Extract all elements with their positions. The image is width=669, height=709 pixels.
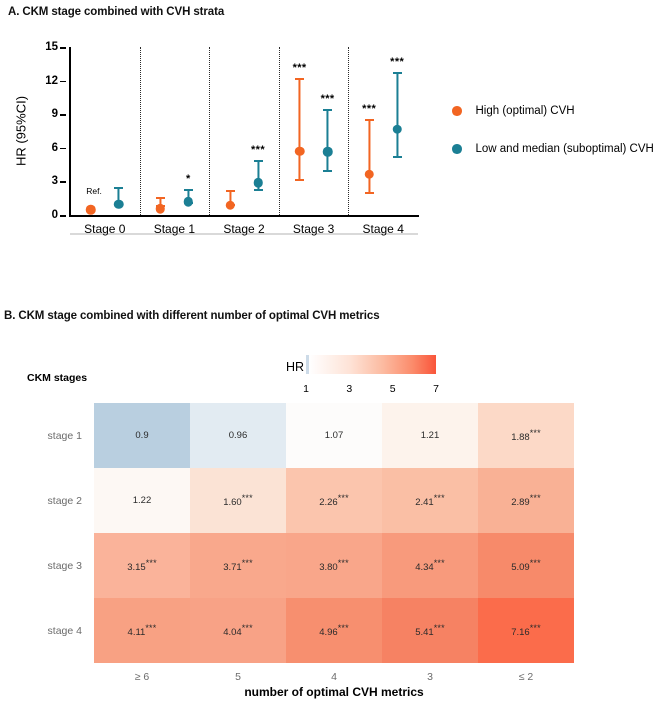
data-point-marker — [86, 205, 96, 215]
significance-stars: *** — [362, 104, 376, 115]
y-axis-tick — [60, 81, 66, 83]
heatmap-cell[interactable]: 3.80*** — [286, 533, 382, 598]
panel-a-legend: High (optimal) CVH Low and median (subop… — [452, 92, 654, 168]
y-axis-tick-label: 0 — [52, 209, 58, 221]
colorbar-tick-label: 3 — [346, 383, 352, 395]
heatmap-cell[interactable]: 4.96***4 — [286, 598, 382, 663]
heatmap-cell[interactable]: 3.71*** — [190, 533, 286, 598]
heatmap-row: stage 21.221.60***2.26***2.41***2.89*** — [94, 468, 574, 533]
heatmap-cell-value: 1.88*** — [511, 428, 541, 443]
heatmap-grid: stage 10.90.961.071.211.88***stage 21.22… — [94, 403, 574, 663]
colorbar-tick-label: 5 — [390, 383, 396, 395]
error-bar-line — [299, 78, 301, 181]
colorbar-tick-label: 7 — [433, 383, 439, 395]
legend-item-high-cvh: High (optimal) CVH — [452, 92, 654, 130]
data-point-group — [160, 47, 161, 215]
heatmap-column-label: 3 — [427, 671, 433, 683]
panel-a-title: A. CKM stage combined with CVH strata — [8, 6, 224, 18]
error-bar-line — [327, 109, 329, 173]
heatmap-column-label: ≥ 6 — [135, 671, 150, 683]
heatmap-cell-value: 5.41*** — [415, 623, 445, 638]
error-bar-line — [368, 119, 370, 194]
significance-stars: *** — [390, 57, 404, 68]
heatmap-row-label: stage 2 — [48, 495, 82, 507]
panel-a-x-axis — [69, 215, 419, 217]
y-axis-tick-label: 6 — [52, 142, 58, 154]
data-point-marker — [323, 147, 333, 157]
y-axis-tick-label: 3 — [52, 175, 58, 187]
x-axis-group-label: Stage 2 — [223, 222, 264, 236]
heatmap-column-label: 5 — [235, 671, 241, 683]
reference-annotation: Ref. — [86, 186, 102, 196]
error-bar-cap-upper — [254, 160, 263, 162]
heatmap-cell-value: 0.96 — [229, 430, 248, 441]
heatmap-cell-value: 0.9 — [135, 430, 148, 441]
y-axis-tick-label: 9 — [52, 108, 58, 120]
heatmap-cell[interactable]: 1.22 — [94, 468, 190, 533]
y-axis-tick — [60, 181, 66, 183]
data-point-group: *** — [369, 47, 370, 215]
heatmap-cell[interactable]: 1.07 — [286, 403, 382, 468]
error-bar-cap-upper — [323, 109, 332, 111]
heatmap-cell[interactable]: 1.60*** — [190, 468, 286, 533]
panel-b-title: B. CKM stage combined with different num… — [4, 310, 380, 322]
colorbar-gradient: 1357 — [306, 355, 436, 374]
heatmap-cell[interactable]: 2.41*** — [382, 468, 478, 533]
heatmap-cell[interactable]: 3.15*** — [94, 533, 190, 598]
panel-a-y-axis-label: HR (95%CI) — [14, 96, 29, 166]
data-point-group — [118, 47, 119, 215]
heatmap-cell[interactable]: 2.89*** — [478, 468, 574, 533]
heatmap-cell-value: 3.15*** — [127, 558, 157, 573]
heatmap-cell[interactable]: 1.88*** — [478, 403, 574, 468]
colorbar-red-ramp — [309, 355, 436, 374]
heatmap-cell[interactable]: 4.04***5 — [190, 598, 286, 663]
panel-a-forest-plot: HR (95%CI) 03691215 Ref.****************… — [0, 30, 669, 265]
data-point-marker — [156, 204, 166, 214]
data-point-marker — [392, 124, 402, 134]
colorbar-tick-label: 1 — [303, 383, 309, 395]
heatmap-cell-value: 1.07 — [325, 430, 344, 441]
x-axis-group-label: Stage 4 — [363, 222, 404, 236]
y-axis-tick-label: 12 — [45, 75, 58, 87]
heatmap-cell-value: 3.80*** — [319, 558, 349, 573]
panel-b-row-axis-title: CKM stages — [27, 372, 87, 384]
data-point-group: *** — [258, 47, 259, 215]
heatmap-cell[interactable]: 5.41***3 — [382, 598, 478, 663]
data-point-group — [230, 47, 231, 215]
heatmap-cell-value: 3.71*** — [223, 558, 253, 573]
error-bar-cap-upper — [226, 190, 235, 192]
heatmap-row: stage 44.11***≥ 64.04***54.96***45.41***… — [94, 598, 574, 663]
error-bar-cap-upper — [156, 197, 165, 199]
heatmap-row-label: stage 1 — [48, 430, 82, 442]
data-point-marker — [184, 197, 194, 207]
data-point-marker — [364, 170, 374, 180]
data-point-marker — [253, 178, 263, 188]
heatmap-row-label: stage 4 — [48, 625, 82, 637]
y-axis-tick — [60, 114, 66, 116]
error-bar-cap-upper — [393, 72, 402, 74]
error-bar-cap-lower — [393, 156, 402, 158]
error-bar-cap-lower — [365, 192, 374, 194]
legend-item-low-median-cvh: Low and median (suboptimal) CVH — [452, 130, 654, 168]
significance-stars: *** — [251, 145, 265, 156]
heatmap-column-label: 4 — [331, 671, 337, 683]
colorbar: HR 1357 — [286, 348, 506, 388]
heatmap-cell-value: 2.26*** — [319, 493, 349, 508]
error-bar-cap-upper — [114, 187, 123, 189]
legend-marker-orange — [452, 106, 462, 116]
group-separator — [209, 47, 210, 215]
group-separator — [140, 47, 141, 215]
heatmap-cell[interactable]: 7.16***≤ 2 — [478, 598, 574, 663]
significance-stars: *** — [321, 94, 335, 105]
heatmap-cell[interactable]: 4.34*** — [382, 533, 478, 598]
group-separator — [348, 47, 349, 215]
heatmap-cell-value: 4.96*** — [319, 623, 349, 638]
heatmap-cell-value: 4.04*** — [223, 623, 253, 638]
heatmap-row: stage 33.15***3.71***3.80***4.34***5.09*… — [94, 533, 574, 598]
x-axis-group-label: Stage 3 — [293, 222, 334, 236]
heatmap-column-label: ≤ 2 — [519, 671, 534, 683]
error-bar-cap-lower — [323, 170, 332, 172]
data-point-group: Ref. — [90, 47, 91, 215]
data-point-marker — [114, 199, 124, 209]
heatmap-row: stage 10.90.961.071.211.88*** — [94, 403, 574, 468]
heatmap-cell-value: 4.34*** — [415, 558, 445, 573]
heatmap-cell[interactable]: 2.26*** — [286, 468, 382, 533]
heatmap-row-label: stage 3 — [48, 560, 82, 572]
x-axis-group-label: Stage 1 — [154, 222, 195, 236]
error-bar-cap-upper — [365, 119, 374, 121]
heatmap-cell[interactable]: 1.21 — [382, 403, 478, 468]
legend-label-low-median-cvh: Low and median (suboptimal) CVH — [476, 143, 654, 155]
data-point-marker — [225, 200, 235, 210]
y-axis-tick — [60, 47, 66, 49]
panel-a-plot-area: Ref.**************** — [70, 47, 418, 215]
error-bar-cap-lower — [295, 179, 304, 181]
y-axis-tick — [60, 148, 66, 150]
y-axis-tick — [60, 215, 66, 217]
heatmap-cell[interactable]: 5.09*** — [478, 533, 574, 598]
heatmap-cell-value: 2.41*** — [415, 493, 445, 508]
data-point-group: *** — [397, 47, 398, 215]
significance-stars: * — [186, 174, 191, 185]
heatmap-cell-value: 4.11*** — [128, 623, 157, 638]
heatmap-cell[interactable]: 0.96 — [190, 403, 286, 468]
data-point-group: *** — [327, 47, 328, 215]
legend-marker-teal — [452, 144, 462, 154]
heatmap-cell-value: 5.09*** — [511, 558, 541, 573]
data-point-marker — [295, 147, 305, 157]
data-point-group: *** — [299, 47, 300, 215]
significance-stars: *** — [293, 63, 307, 74]
y-axis-tick-label: 15 — [45, 41, 58, 53]
panel-b-heatmap: HR 1357 CKM stages stage 10.90.961.071.2… — [0, 330, 669, 709]
error-bar-cap-upper — [184, 189, 193, 191]
legend-label-high-cvh: High (optimal) CVH — [476, 105, 575, 117]
error-bar-cap-upper — [295, 78, 304, 80]
heatmap-cell-value: 1.22 — [133, 495, 152, 506]
heatmap-cell[interactable]: 4.11***≥ 6 — [94, 598, 190, 663]
heatmap-cell-value: 7.16*** — [511, 623, 541, 638]
error-bar-line — [396, 72, 398, 158]
data-point-group: * — [188, 47, 189, 215]
colorbar-label: HR — [286, 360, 304, 374]
group-separator — [279, 47, 280, 215]
heatmap-cell[interactable]: 0.9 — [94, 403, 190, 468]
error-bar-cap-lower — [254, 189, 263, 191]
heatmap-cell-value: 1.60*** — [223, 493, 253, 508]
panel-b-x-axis-title: number of optimal CVH metrics — [244, 685, 423, 699]
heatmap-cell-value: 1.21 — [421, 430, 440, 441]
x-axis-group-label: Stage 0 — [84, 222, 125, 236]
heatmap-cell-value: 2.89*** — [511, 493, 541, 508]
